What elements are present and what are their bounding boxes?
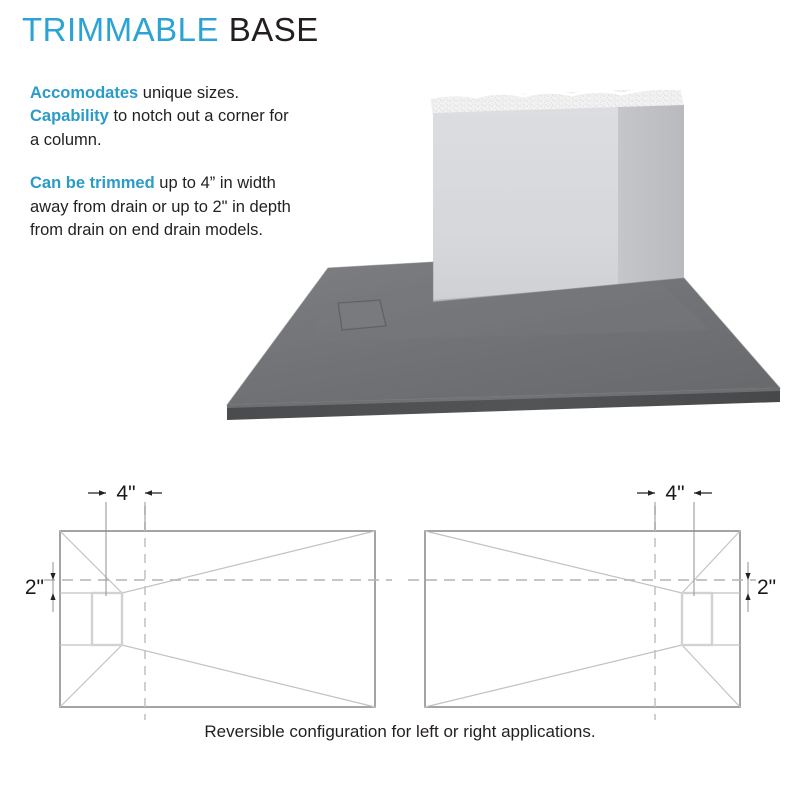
wall-front-face xyxy=(433,107,618,302)
page-title-accent: TRIMMABLE xyxy=(22,11,219,48)
drain-cover xyxy=(338,300,386,330)
left-drain-layout: 4" 2" xyxy=(25,482,392,720)
width-dimension-right: 4" xyxy=(637,482,712,596)
shower-base-3d-render xyxy=(190,50,800,425)
diagram-caption: Reversible configuration for left or rig… xyxy=(0,722,800,742)
technical-diagrams: 4" 2" xyxy=(0,470,800,720)
depth-dimension-label-right: 2" xyxy=(757,576,776,599)
pan-outline-left xyxy=(60,531,375,707)
width-dimension-label-left: 4" xyxy=(116,482,135,505)
page-title-rest: BASE xyxy=(229,11,319,48)
lead-capability: Capability xyxy=(30,107,109,125)
depth-dimension-right: 2" xyxy=(745,562,776,612)
page-title: TRIMMABLE BASE xyxy=(22,12,319,48)
width-dimension-label-right: 4" xyxy=(665,482,684,505)
slope-lines-right xyxy=(425,531,740,707)
lead-can-be-trimmed: Can be trimmed xyxy=(30,174,155,192)
lead-accommodates: Accomodates xyxy=(30,84,138,102)
drain-box-left xyxy=(92,593,122,645)
depth-dimension-left: 2" xyxy=(25,562,56,612)
right-drain-layout: 4" 2" xyxy=(408,482,776,720)
width-dimension-left: 4" xyxy=(88,482,162,596)
depth-dimension-label-left: 2" xyxy=(25,576,44,599)
pan-outline-right xyxy=(425,531,740,707)
wall-side-face xyxy=(618,105,684,293)
slope-lines-left xyxy=(60,531,375,707)
drain-box-right xyxy=(682,593,712,645)
